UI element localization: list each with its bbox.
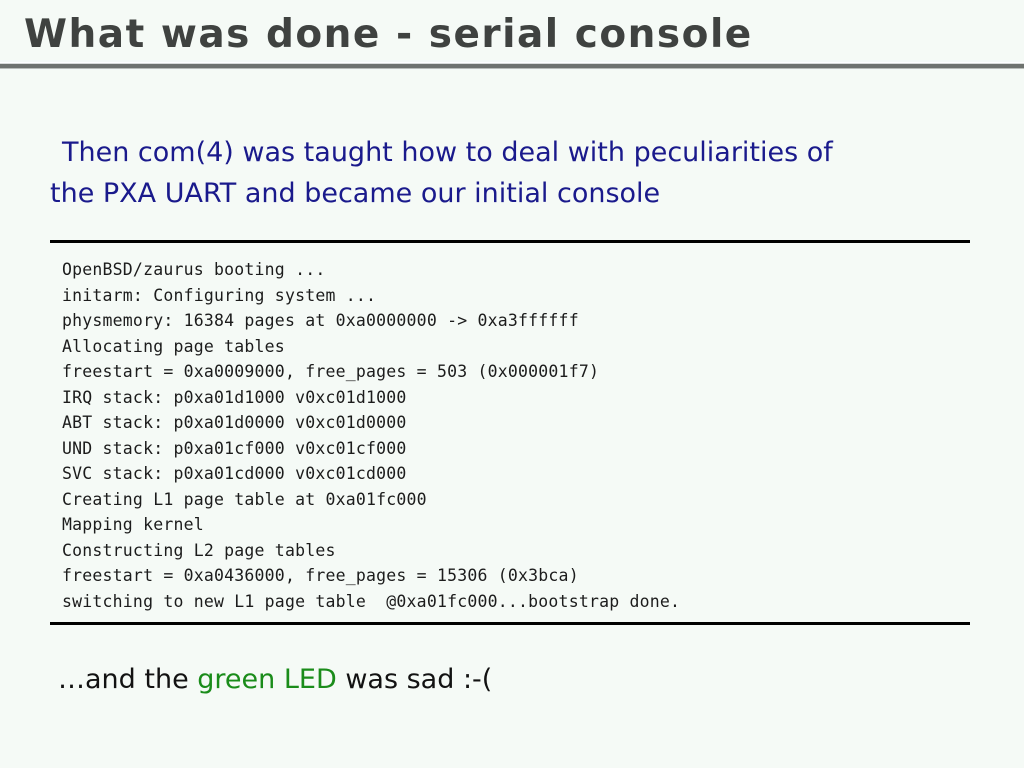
console-line: IRQ stack: p0xa01d1000 v0xc01d1000 (62, 385, 970, 411)
console-line: physmemory: 16384 pages at 0xa0000000 ->… (62, 308, 970, 334)
closing-caption: …and the green LED was sad :-( (58, 660, 492, 700)
caption-suffix: was sad :-( (337, 664, 493, 695)
slide-header: What was done - serial console (0, 0, 1024, 72)
console-line: Creating L1 page table at 0xa01fc000 (62, 487, 970, 513)
subtitle-line-2: the PXA UART and became our initial cons… (50, 173, 980, 214)
title-divider (0, 62, 1024, 70)
console-line: Allocating page tables (62, 334, 970, 360)
slide: What was done - serial console Then com(… (0, 0, 1024, 768)
console-lines: OpenBSD/zaurus booting ... initarm: Conf… (50, 243, 970, 622)
console-line: OpenBSD/zaurus booting ... (62, 257, 970, 283)
console-output-block: OpenBSD/zaurus booting ... initarm: Conf… (50, 240, 970, 625)
page-title: What was done - serial console (24, 12, 753, 58)
console-line: freestart = 0xa0436000, free_pages = 153… (62, 563, 970, 589)
console-line: switching to new L1 page table @0xa01fc0… (62, 589, 970, 615)
subtitle-paragraph: Then com(4) was taught how to deal with … (50, 132, 980, 214)
console-line: Mapping kernel (62, 512, 970, 538)
caption-highlight-green-led: green LED (197, 664, 336, 695)
console-line: UND stack: p0xa01cf000 v0xc01cf000 (62, 436, 970, 462)
console-bottom-divider (50, 622, 970, 625)
caption-prefix: …and the (58, 664, 197, 695)
console-line: initarm: Configuring system ... (62, 283, 970, 309)
console-line: Constructing L2 page tables (62, 538, 970, 564)
subtitle-line-1: Then com(4) was taught how to deal with … (50, 132, 980, 173)
console-line: ABT stack: p0xa01d0000 v0xc01d0000 (62, 410, 970, 436)
console-line: freestart = 0xa0009000, free_pages = 503… (62, 359, 970, 385)
console-line: SVC stack: p0xa01cd000 v0xc01cd000 (62, 461, 970, 487)
